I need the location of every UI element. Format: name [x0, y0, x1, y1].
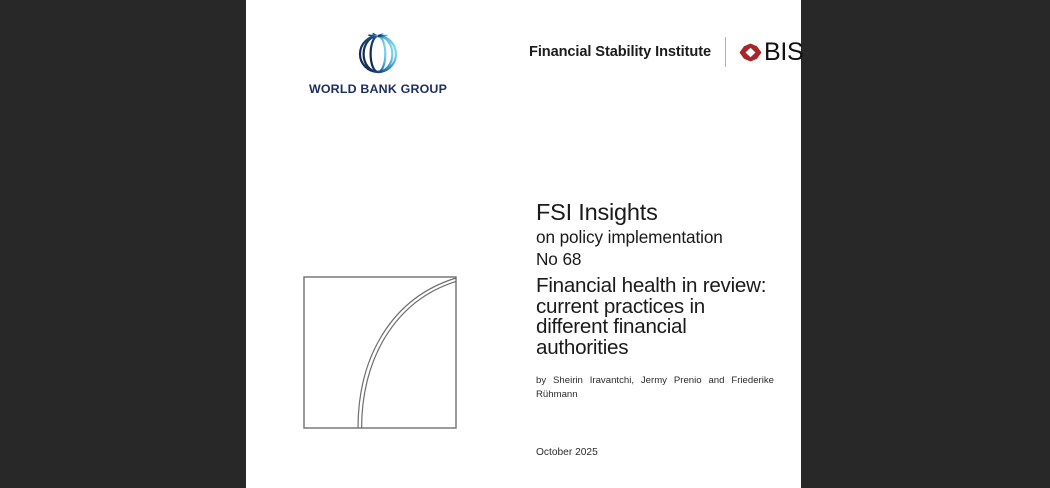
globe-icon [354, 30, 402, 78]
publication-date: October 2025 [536, 447, 598, 458]
series-subtitle: on policy implementation [536, 226, 776, 248]
cover-arc-graphic [303, 276, 457, 429]
screenshot-viewport: WORLD BANK GROUP Financial Stability Ins… [0, 0, 1050, 488]
world-bank-wordmark: WORLD BANK GROUP [290, 82, 466, 96]
vertical-divider-icon [725, 37, 726, 67]
bis-diamond-icon [739, 43, 762, 62]
financial-stability-institute-label: Financial Stability Institute [529, 44, 711, 60]
document-title: Financial health in review: current prac… [536, 276, 774, 358]
cover-header: WORLD BANK GROUP Financial Stability Ins… [246, 0, 801, 110]
quarter-arc-square-icon [303, 276, 457, 429]
fsi-bis-lockup: Financial Stability Institute BIS [529, 36, 803, 68]
bis-logo: BIS [739, 40, 803, 65]
world-bank-group-logo: WORLD BANK GROUP [290, 30, 466, 96]
series-number: No 68 [536, 248, 776, 270]
title-block: FSI Insights on policy implementation No… [536, 200, 776, 401]
series-title: FSI Insights [536, 200, 776, 225]
author-list: by Sheirin Iravantchi, Jermy Prenio and … [536, 374, 774, 400]
bis-wordmark: BIS [764, 40, 803, 65]
document-page: WORLD BANK GROUP Financial Stability Ins… [246, 0, 801, 488]
